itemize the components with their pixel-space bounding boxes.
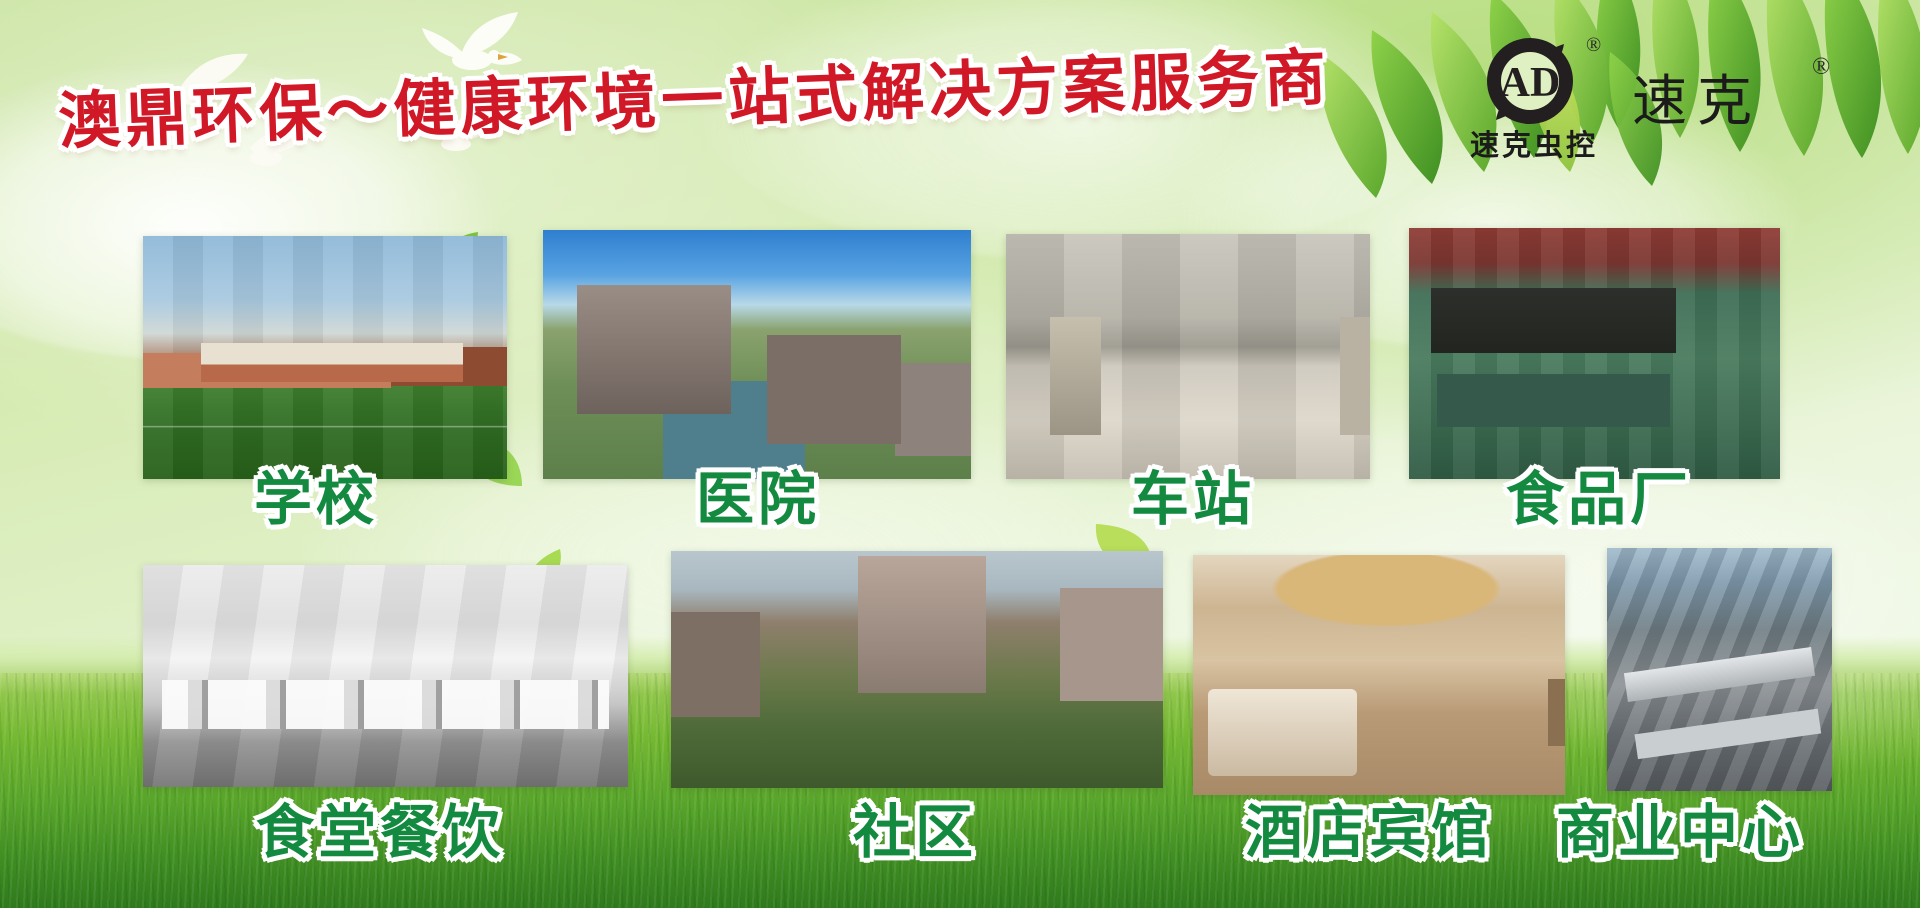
banner-stage: 澳鼎环保～健康环境一站式解决方案服务商 AD ® 速克 ® 速克虫控 学校 医院… bbox=[0, 0, 1920, 908]
card-canteen[interactable] bbox=[143, 565, 628, 787]
card-label-food-factory: 食品厂 bbox=[1506, 452, 1692, 536]
card-community[interactable] bbox=[671, 551, 1163, 788]
card-station[interactable] bbox=[1006, 234, 1370, 479]
card-mall[interactable] bbox=[1607, 548, 1832, 791]
sub-brand-name: 速克虫控 bbox=[1470, 122, 1598, 164]
brand-name: 速克 bbox=[1632, 56, 1762, 136]
ad-logo-icon: AD bbox=[1468, 36, 1593, 126]
card-label-canteen: 食堂餐饮 bbox=[256, 785, 504, 869]
card-school[interactable] bbox=[143, 236, 507, 479]
card-hospital[interactable] bbox=[543, 230, 971, 479]
card-label-hotel: 酒店宾馆 bbox=[1245, 785, 1493, 869]
card-hotel[interactable] bbox=[1193, 555, 1565, 795]
hotel-photo bbox=[1193, 555, 1565, 795]
mall-photo bbox=[1607, 548, 1832, 791]
card-label-hospital: 医院 bbox=[696, 452, 820, 536]
card-label-community: 社区 bbox=[853, 785, 977, 869]
hospital-photo bbox=[543, 230, 971, 479]
svg-text:AD: AD bbox=[1500, 60, 1561, 106]
card-label-school: 学校 bbox=[254, 452, 378, 536]
card-label-station: 车站 bbox=[1131, 452, 1255, 536]
canteen-photo bbox=[143, 565, 628, 787]
card-food-factory[interactable] bbox=[1409, 228, 1780, 479]
card-label-mall: 商业中心 bbox=[1556, 785, 1804, 869]
registered-mark-1-icon: ® bbox=[1586, 34, 1601, 57]
community-photo bbox=[671, 551, 1163, 788]
brand-logo[interactable]: AD ® 速克 ® 速克虫控 bbox=[1460, 32, 1880, 152]
station-photo bbox=[1006, 234, 1370, 479]
school-photo bbox=[143, 236, 507, 479]
food-factory-photo bbox=[1409, 228, 1780, 479]
registered-mark-2-icon: ® bbox=[1812, 54, 1830, 81]
